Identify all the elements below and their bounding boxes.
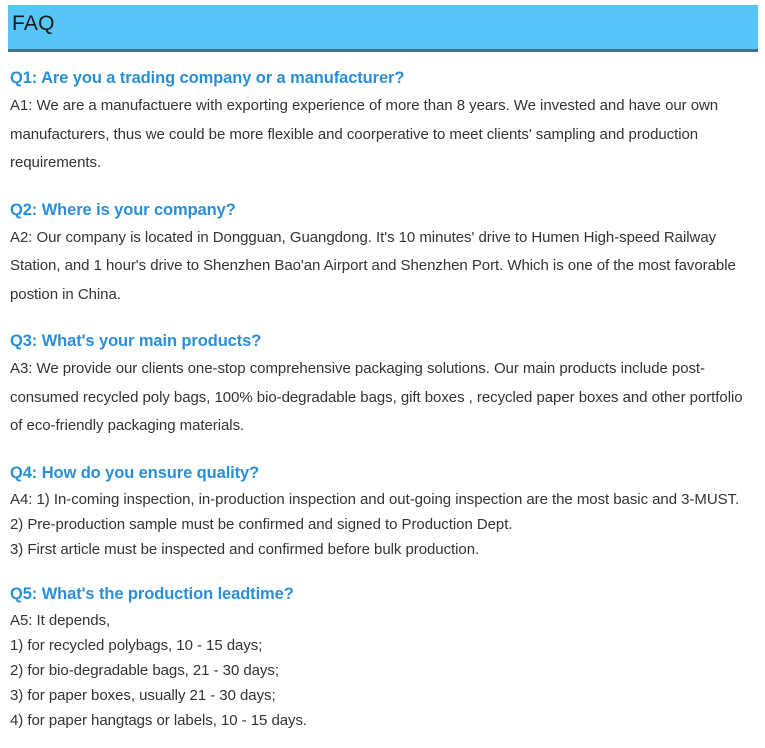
faq-answer-1: A1: We are a manufactuere with exporting… — [10, 92, 752, 178]
faq-question-5: Q5: What's the production leadtime? — [10, 582, 752, 606]
faq-answer-5: A5: It depends, 1) for recycled polybags… — [10, 608, 752, 733]
faq-question-3: Q3: What's your main products? — [10, 329, 752, 353]
faq-answer-4-line-3: 3) First article must be inspected and c… — [10, 537, 752, 562]
faq-question-2: Q2: Where is your company? — [10, 198, 752, 222]
faq-item-2: Q2: Where is your company? A2: Our compa… — [10, 198, 752, 310]
faq-answer-5-line-2: 1) for recycled polybags, 10 - 15 days; — [10, 633, 752, 658]
faq-answer-4: A4: 1) In-coming inspection, in-producti… — [10, 487, 752, 562]
faq-content: Q1: Are you a trading company or a manuf… — [10, 66, 752, 733]
faq-answer-5-line-1: A5: It depends, — [10, 608, 752, 633]
faq-header-bar: FAQ — [8, 5, 758, 52]
faq-question-4: Q4: How do you ensure quality? — [10, 461, 752, 485]
faq-item-1: Q1: Are you a trading company or a manuf… — [10, 66, 752, 178]
faq-page: FAQ Q1: Are you a trading company or a m… — [0, 0, 765, 748]
faq-answer-5-line-4: 3) for paper boxes, usually 21 - 30 days… — [10, 683, 752, 708]
faq-item-3: Q3: What's your main products? A3: We pr… — [10, 329, 752, 441]
faq-answer-2: A2: Our company is located in Dongguan, … — [10, 224, 752, 310]
faq-answer-3: A3: We provide our clients one-stop comp… — [10, 355, 752, 441]
faq-item-4: Q4: How do you ensure quality? A4: 1) In… — [10, 461, 752, 562]
faq-answer-5-line-5: 4) for paper hangtags or labels, 10 - 15… — [10, 708, 752, 733]
faq-answer-4-line-1: A4: 1) In-coming inspection, in-producti… — [10, 487, 752, 512]
faq-answer-4-line-2: 2) Pre-production sample must be confirm… — [10, 512, 752, 537]
faq-answer-5-line-3: 2) for bio-degradable bags, 21 - 30 days… — [10, 658, 752, 683]
faq-question-1: Q1: Are you a trading company or a manuf… — [10, 66, 752, 90]
faq-item-5: Q5: What's the production leadtime? A5: … — [10, 582, 752, 733]
page-title: FAQ — [12, 12, 55, 36]
